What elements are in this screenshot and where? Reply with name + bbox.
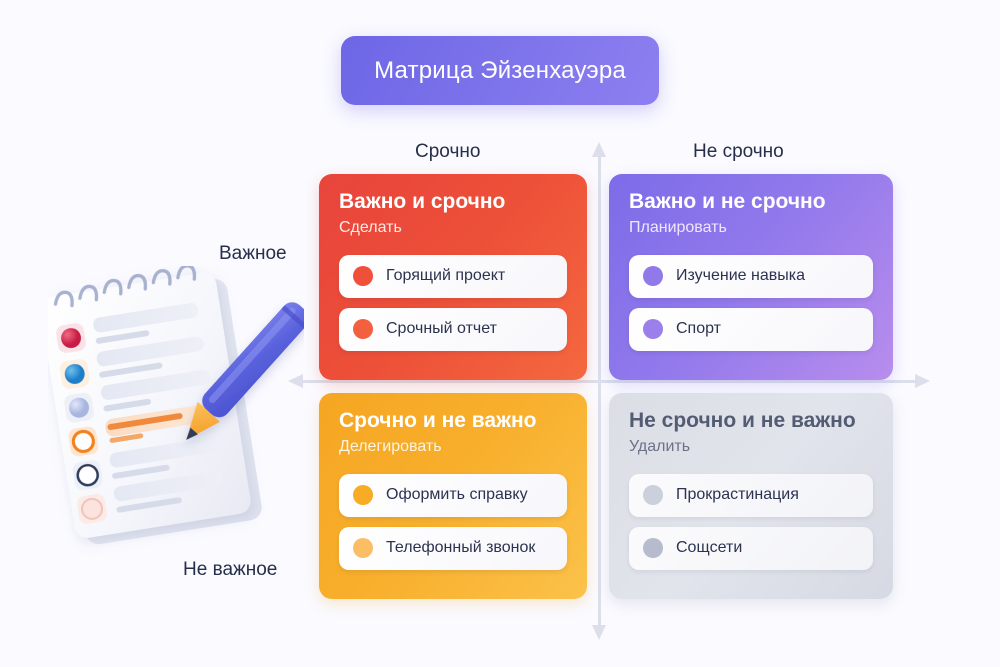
list-item[interactable]: Сощсети <box>629 527 873 570</box>
quadrant-subtitle: Планировать <box>629 218 873 237</box>
list-item[interactable]: Телефонный звонок <box>339 527 567 570</box>
list-item[interactable]: Прокрастинация <box>629 474 873 517</box>
bullet-dot-icon <box>353 266 373 286</box>
list-item-label: Телефонный звонок <box>386 539 535 557</box>
quadrant-title: Важно и срочно <box>339 190 567 215</box>
axis-label-urgent: Срочно <box>415 141 480 163</box>
page-title-badge: Матрица Эйзенхауэра <box>341 36 659 105</box>
vertical-axis <box>597 142 602 640</box>
bullet-dot-icon <box>353 538 373 558</box>
page-title: Матрица Эйзенхауэра <box>374 57 626 85</box>
list-item-label: Оформить справку <box>386 486 528 504</box>
quadrant-subtitle: Сделать <box>339 218 567 237</box>
list-item-label: Спорт <box>676 320 721 338</box>
bullet-dot-icon <box>643 485 663 505</box>
axis-label-important: Важное <box>219 243 287 265</box>
quadrant-item-list: Оформить справку Телефонный звонок <box>339 474 567 570</box>
quadrant-subtitle: Удалить <box>629 437 873 456</box>
list-item[interactable]: Изучение навыка <box>629 255 873 298</box>
quadrant-title: Важно и не срочно <box>629 190 873 215</box>
list-item[interactable]: Горящий проект <box>339 255 567 298</box>
quadrant-item-list: Прокрастинация Сощсети <box>629 474 873 570</box>
bullet-dot-icon <box>643 266 663 286</box>
arrow-down-icon <box>592 625 606 640</box>
list-item-label: Прокрастинация <box>676 486 799 504</box>
bullet-dot-icon <box>643 319 663 339</box>
bullet-dot-icon <box>353 485 373 505</box>
bullet-dot-icon <box>643 538 663 558</box>
list-item-label: Срочный отчет <box>386 320 497 338</box>
horizontal-axis-line <box>302 380 916 383</box>
quadrant-title: Срочно и не важно <box>339 409 567 434</box>
quadrant-item-list: Изучение навыка Спорт <box>629 255 873 351</box>
notepad-with-pencil-icon <box>48 266 304 566</box>
quadrant-not-urgent-not-important[interactable]: Не срочно и не важно Удалить Прокрастина… <box>609 393 893 599</box>
bullet-dot-icon <box>353 319 373 339</box>
quadrant-important-urgent[interactable]: Важно и срочно Сделать Горящий проект Ср… <box>319 174 587 380</box>
vertical-axis-line <box>598 156 601 626</box>
quadrant-important-not-urgent[interactable]: Важно и не срочно Планировать Изучение н… <box>609 174 893 380</box>
list-item-label: Изучение навыка <box>676 267 805 285</box>
notepad-illustration <box>48 266 304 566</box>
list-item-label: Горящий проект <box>386 267 505 285</box>
arrow-right-icon <box>915 374 930 388</box>
axis-label-not-urgent: Не срочно <box>693 141 784 163</box>
quadrant-subtitle: Делегировать <box>339 437 567 456</box>
list-item[interactable]: Оформить справку <box>339 474 567 517</box>
list-item[interactable]: Срочный отчет <box>339 308 567 351</box>
list-item[interactable]: Спорт <box>629 308 873 351</box>
quadrant-item-list: Горящий проект Срочный отчет <box>339 255 567 351</box>
quadrant-title: Не срочно и не важно <box>629 409 873 434</box>
arrow-up-icon <box>592 142 606 157</box>
list-item-label: Сощсети <box>676 539 742 557</box>
quadrant-urgent-not-important[interactable]: Срочно и не важно Делегировать Оформить … <box>319 393 587 599</box>
